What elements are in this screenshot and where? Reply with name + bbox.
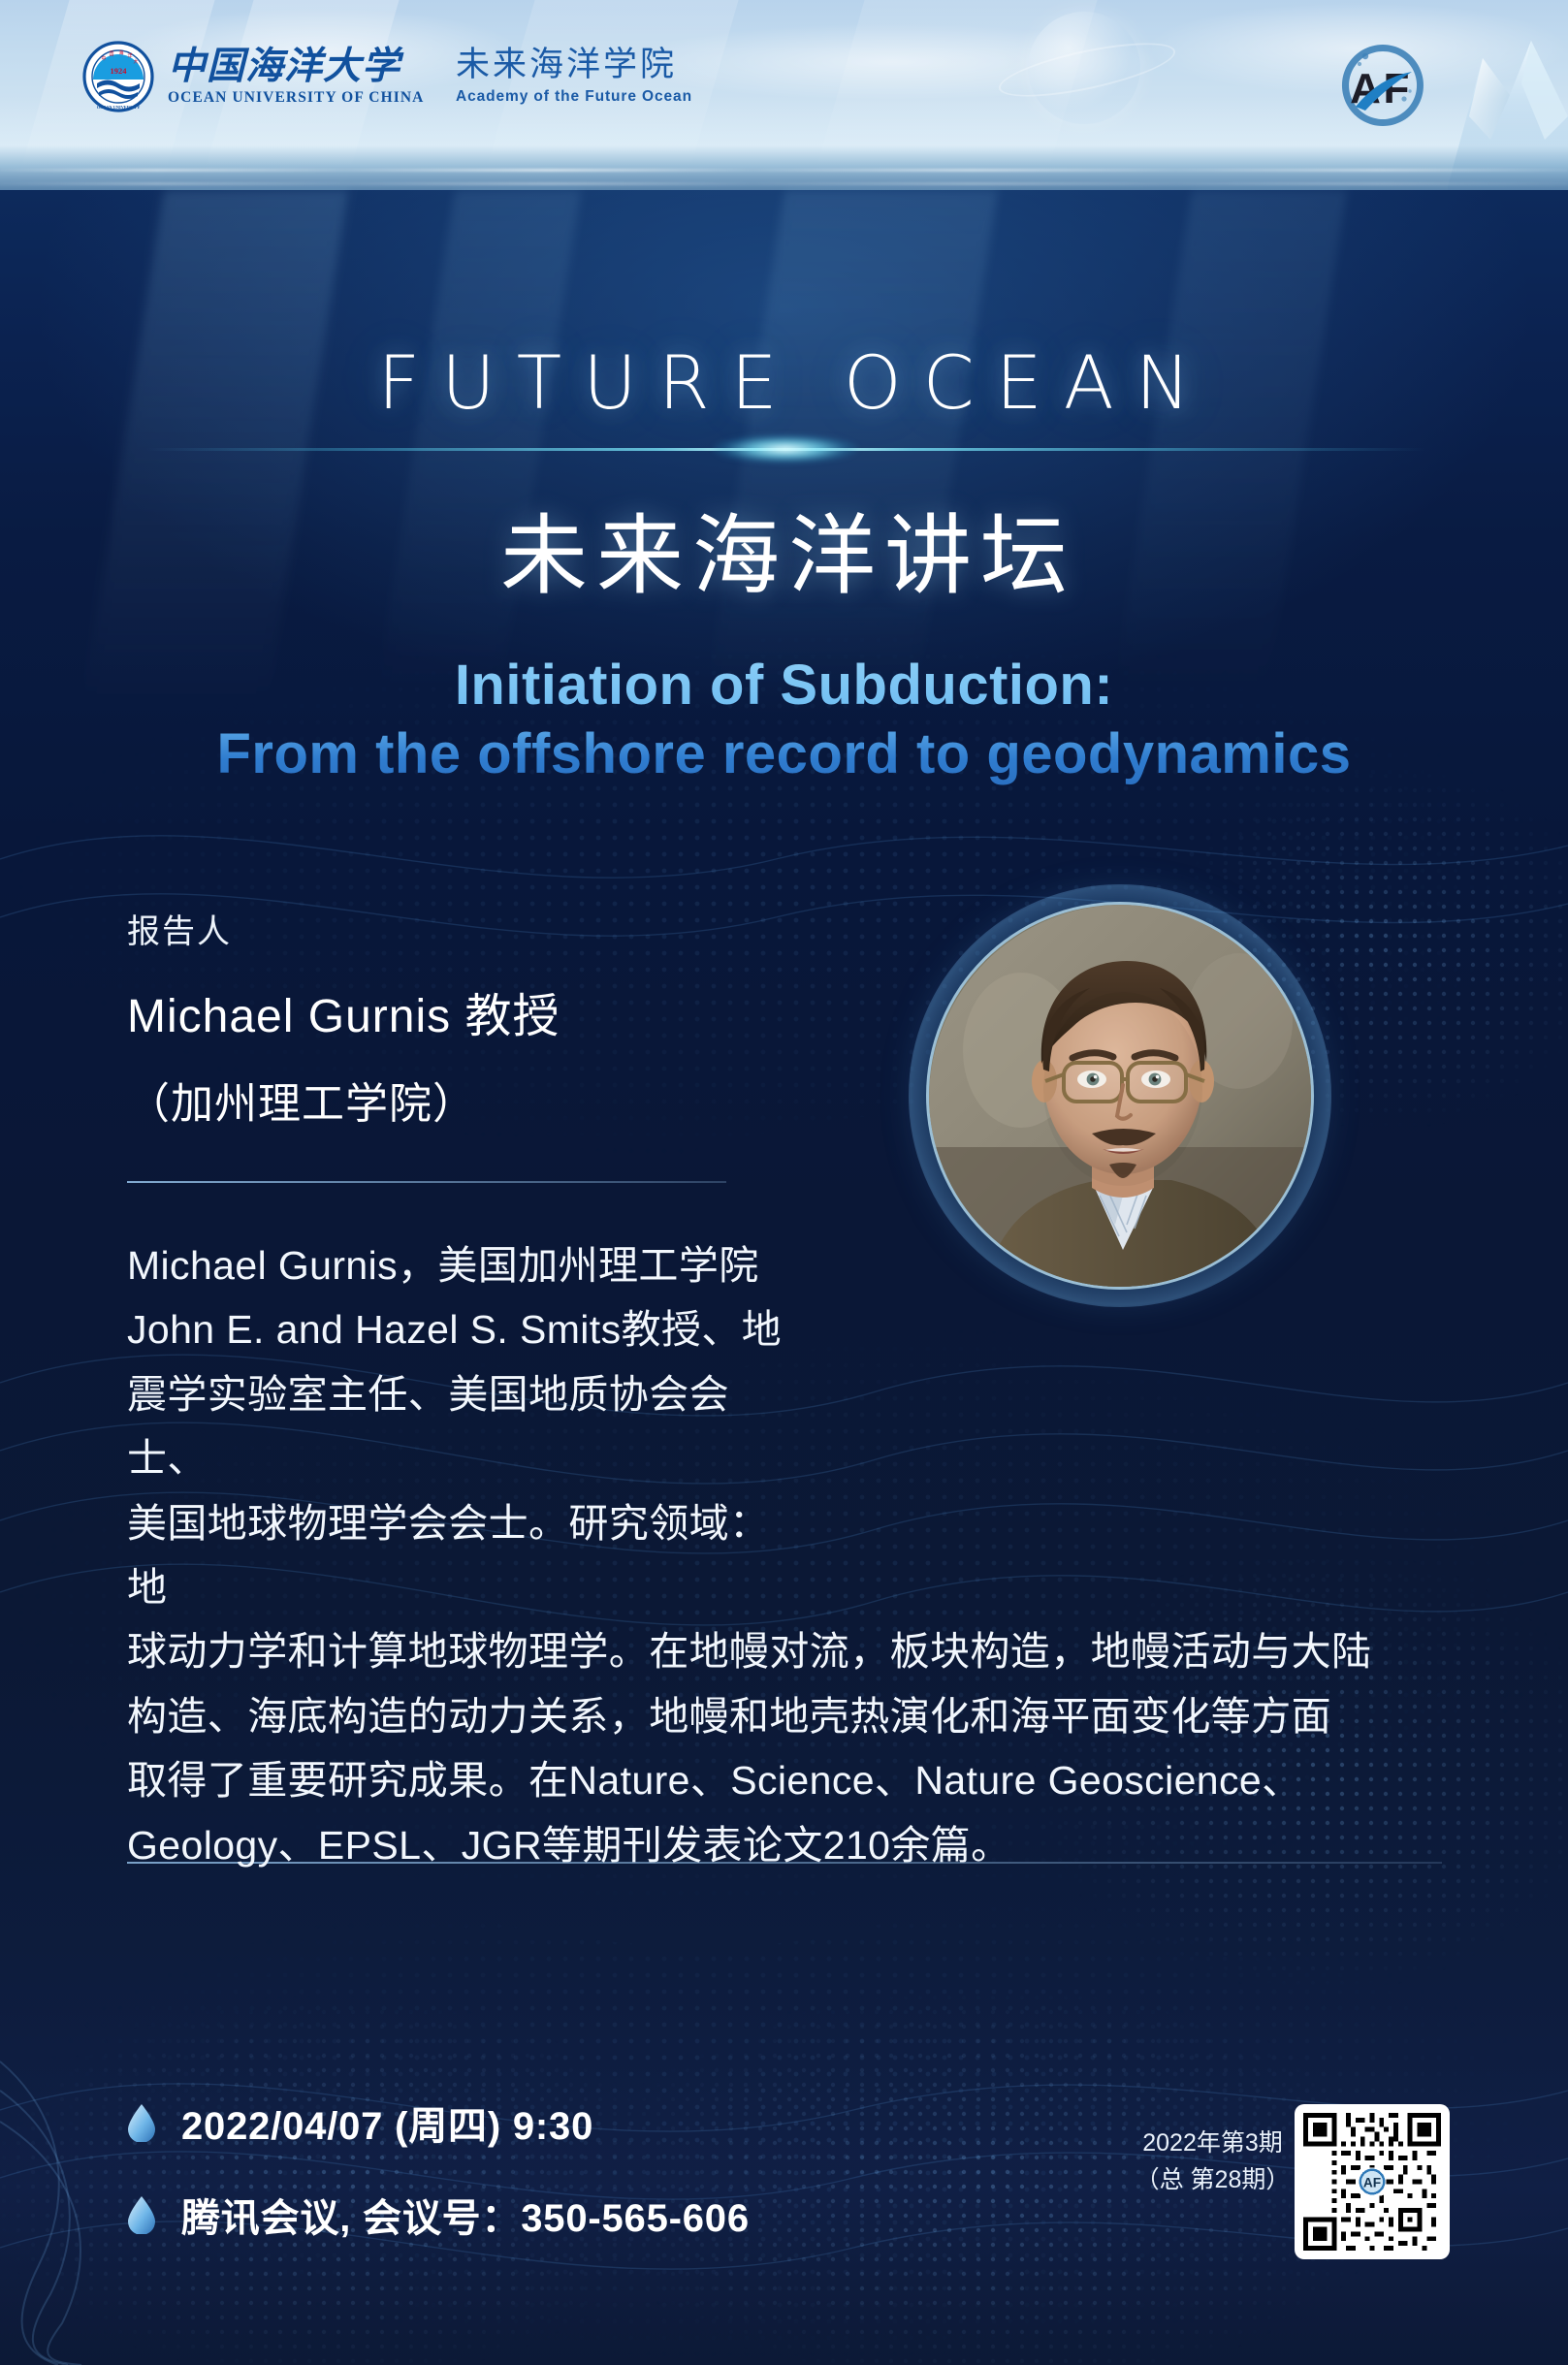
event-datetime: 2022/04/07 (周四) 9:30 (181, 2094, 593, 2151)
speaker-bio: Michael Gurnis，美国加州理工学院 John E. and Haze… (127, 1233, 1446, 1877)
speaker-portrait (926, 902, 1314, 1290)
bio-line: Michael Gurnis，美国加州理工学院 (127, 1233, 796, 1297)
bio-line: 构造、海底构造的动力关系，地幔和地壳热演化和海平面变化等方面 (127, 1684, 1446, 1748)
seal-year-text: 1924 (111, 66, 128, 76)
qr-code-matrix: AF (1303, 2113, 1441, 2251)
qr-center-label: AF (1363, 2175, 1381, 2189)
speaker-name: Michael Gurnis 教授 (127, 977, 806, 1045)
svg-text:海: 海 (118, 49, 123, 56)
talk-title-line-1: Initiation of Subduction: (455, 654, 1113, 717)
talk-title: Initiation of Subduction: From the offsh… (0, 652, 1568, 789)
ouc-logo-lockup: 1924 中 国 海 洋 大 OCEAN UNIVERSITY 中国海洋大学 O… (82, 41, 424, 112)
svg-text:中: 中 (101, 55, 106, 62)
bio-line: 美国地球物理学会会士。研究领域：地 (127, 1491, 796, 1620)
talk-title-line-2: From the offshore record to geodynamics (216, 722, 1351, 785)
bio-line: Geology、EPSL、JGR等期刊发表论文210余篇。 (127, 1813, 1446, 1877)
issue-line-1: 2022年第3期 (1128, 2125, 1297, 2162)
poster-canvas: 1924 中 国 海 洋 大 OCEAN UNIVERSITY 中国海洋大学 O… (0, 0, 1568, 2365)
water-drop-icon (127, 2103, 156, 2142)
portrait-illustration (929, 905, 1314, 1290)
academy-name-cn: 未来海洋学院 (456, 47, 692, 84)
event-datetime-row: 2022/04/07 (周四) 9:30 (127, 2094, 593, 2151)
meeting-info: 腾讯会议, 会议号：350-565-606 (181, 2187, 750, 2243)
speaker-portrait-wrapper (926, 902, 1314, 1290)
af-brush-circle-logo: A F (1336, 39, 1429, 132)
university-name-cn: 中国海洋大学 (168, 47, 424, 87)
ouc-seal-icon: 1924 中 国 海 洋 大 OCEAN UNIVERSITY (82, 41, 154, 112)
divider-rule-top (127, 1181, 726, 1183)
brand-title-en: FUTURE OCEAN (0, 339, 1568, 426)
bio-line: 取得了重要研究成果。在Nature、Science、Nature Geoscie… (127, 1748, 1446, 1812)
brand-title-cn: 未来海洋讲坛 (0, 485, 1568, 611)
speaker-block: 报告人 Michael Gurnis 教授 （加州理工学院） (127, 905, 806, 1131)
university-name-en: OCEAN UNIVERSITY OF CHINA (168, 89, 424, 107)
academy-name-en: Academy of the Future Ocean (456, 88, 692, 106)
wave-foam-line (0, 169, 1568, 172)
issue-line-2: （总 第28期） (1128, 2162, 1297, 2199)
glow-divider-core (713, 434, 858, 463)
svg-text:洋: 洋 (127, 52, 132, 59)
wave-foam-line (0, 182, 1568, 185)
svg-text:OCEAN UNIVERSITY: OCEAN UNIVERSITY (97, 105, 141, 110)
svg-text:国: 国 (109, 51, 113, 57)
qr-code[interactable]: AF (1295, 2104, 1450, 2259)
bio-line: 震学实验室主任、美国地质协会会士、 (127, 1362, 796, 1491)
water-drop-icon (127, 2195, 156, 2234)
speaker-label: 报告人 (127, 905, 806, 952)
bio-line: John E. and Hazel S. Smits教授、地 (127, 1297, 796, 1361)
meeting-info-row: 腾讯会议, 会议号：350-565-606 (127, 2187, 750, 2243)
svg-text:大: 大 (133, 58, 138, 65)
academy-lockup: 未来海洋学院 Academy of the Future Ocean (456, 47, 692, 106)
issue-number: 2022年第3期 （总 第28期） (1128, 2125, 1297, 2198)
speaker-affiliation: （加州理工学院） (127, 1069, 806, 1131)
bio-line: 球动力学和计算地球物理学。在地幔对流，板块构造，地幔活动与大陆 (127, 1619, 1446, 1683)
